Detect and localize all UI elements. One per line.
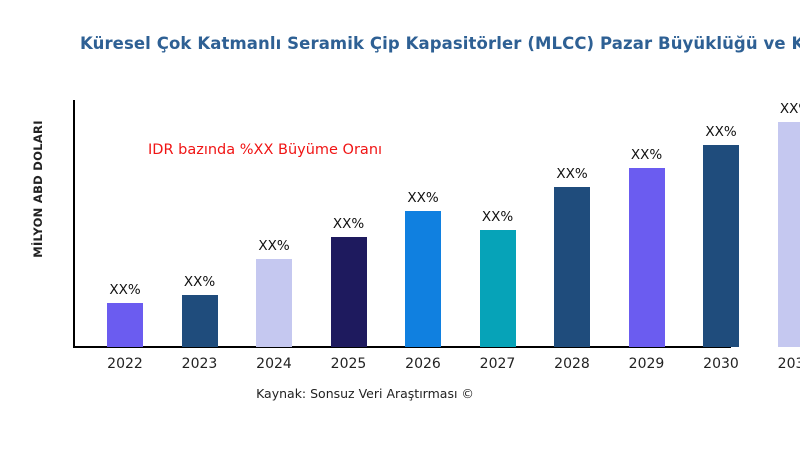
- bar-value-label-2022: XX%: [109, 282, 140, 298]
- bar-group-2030[interactable]: XX%2030: [703, 145, 739, 347]
- bar-value-label-2028: XX%: [556, 166, 587, 182]
- x-tick-label-2031: 2031: [778, 356, 800, 372]
- bar-group-2031[interactable]: XX%2031: [778, 122, 800, 347]
- x-tick-label-2025: 2025: [331, 356, 367, 372]
- bar-group-2026[interactable]: XX%2026: [405, 211, 441, 347]
- x-tick-label-2026: 2026: [405, 356, 441, 372]
- bar-value-label-2029: XX%: [631, 147, 662, 163]
- bar-group-2022[interactable]: XX%2022: [107, 303, 143, 347]
- x-tick-label-2022: 2022: [107, 356, 143, 372]
- bar-2030[interactable]: [703, 145, 739, 347]
- x-tick-label-2024: 2024: [256, 356, 292, 372]
- bar-value-label-2025: XX%: [333, 216, 364, 232]
- x-tick-label-2028: 2028: [554, 356, 590, 372]
- bar-value-label-2031: XX%: [780, 101, 800, 117]
- bar-group-2024[interactable]: XX%2024: [256, 259, 292, 347]
- bar-2022[interactable]: [107, 303, 143, 347]
- bar-2024[interactable]: [256, 259, 292, 347]
- bar-2023[interactable]: [182, 295, 218, 347]
- x-tick-label-2023: 2023: [182, 356, 218, 372]
- bar-2029[interactable]: [629, 168, 665, 347]
- bar-2025[interactable]: [331, 237, 367, 347]
- bar-group-2023[interactable]: XX%2023: [182, 295, 218, 347]
- x-tick-label-2029: 2029: [629, 356, 665, 372]
- bar-group-2025[interactable]: XX%2025: [331, 237, 367, 347]
- source-caption: Kaynak: Sonsuz Veri Araştırması ©: [0, 386, 730, 401]
- bar-value-label-2030: XX%: [705, 124, 736, 140]
- bar-group-2029[interactable]: XX%2029: [629, 168, 665, 347]
- bar-group-2027[interactable]: XX%2027: [480, 230, 516, 347]
- chart-container: Küresel Çok Katmanlı Seramik Çip Kapasit…: [0, 0, 800, 450]
- x-tick-label-2027: 2027: [480, 356, 516, 372]
- bar-2027[interactable]: [480, 230, 516, 347]
- bar-value-label-2026: XX%: [407, 190, 438, 206]
- bar-2031[interactable]: [778, 122, 800, 347]
- bar-value-label-2027: XX%: [482, 209, 513, 225]
- bar-2026[interactable]: [405, 211, 441, 347]
- plot-area: XX%2022XX%2023XX%2024XX%2025XX%2026XX%20…: [0, 0, 800, 450]
- bar-value-label-2023: XX%: [184, 274, 215, 290]
- x-tick-label-2030: 2030: [703, 356, 739, 372]
- bar-2028[interactable]: [554, 187, 590, 347]
- bar-group-2028[interactable]: XX%2028: [554, 187, 590, 347]
- bar-value-label-2024: XX%: [258, 238, 289, 254]
